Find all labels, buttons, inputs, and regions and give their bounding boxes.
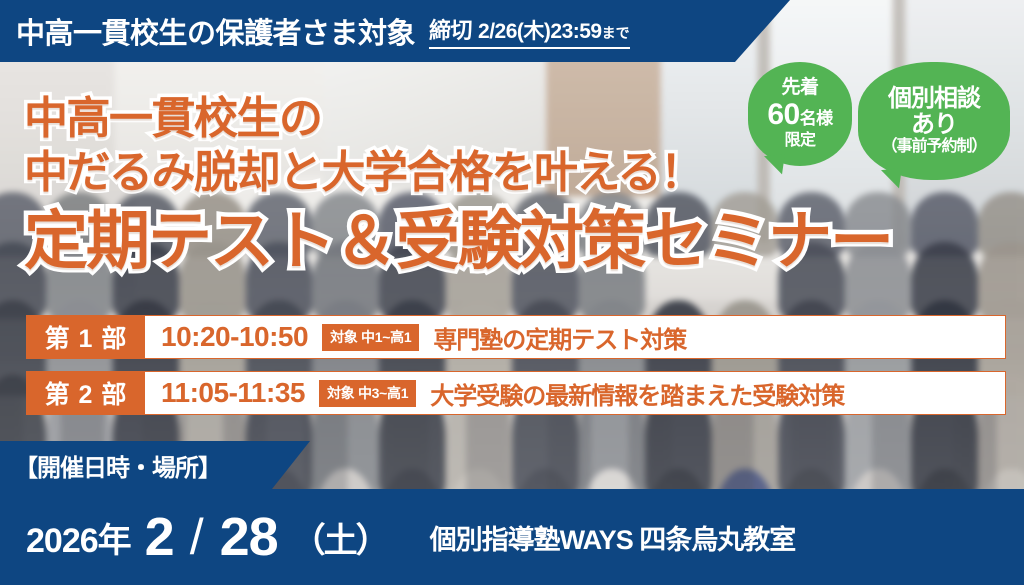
- session-row-2: 第 2 部 11:05-11:35 対象 中3~高1 大学受験の最新情報を踏まえ…: [26, 371, 1006, 415]
- event-month: 2: [145, 510, 174, 564]
- header-band: 中高一貫校生の保護者さま対象 締切 2/26(木)23:59 まで: [0, 0, 790, 62]
- badge-capacity-line2: 60名様: [767, 98, 832, 133]
- venue-section-label-text: 【開催日時・場所】: [0, 448, 221, 483]
- badge-capacity-unit: 名様: [800, 109, 833, 128]
- session-1-time: 10:20-10:50: [161, 321, 308, 353]
- seminar-banner: 中高一貫校生の保護者さま対象 締切 2/26(木)23:59 まで 先着 60名…: [0, 0, 1024, 585]
- session-row-1: 第 1 部 10:20-10:50 対象 中1~高1 専門塾の定期テスト対策: [26, 315, 1006, 359]
- headline-line-3: 定期テスト＆受験対策セミナー: [24, 201, 892, 281]
- badge-consultation-line1: 個別相談: [888, 86, 980, 111]
- event-day-of-week: （土）: [292, 513, 388, 562]
- badge-consultation-line2: あり: [911, 112, 957, 138]
- session-1-description: 専門塾の定期テスト対策: [433, 320, 686, 355]
- badge-consultation: 個別相談 あり （事前予約制）: [858, 62, 1010, 180]
- session-2-time: 11:05-11:35: [161, 377, 305, 409]
- venue-section-label: 【開催日時・場所】: [0, 441, 310, 489]
- badge-group: 先着 60名様 限定 個別相談 あり （事前予約制）: [748, 62, 1010, 180]
- badge-consultation-line3: （事前予約制）: [881, 138, 986, 156]
- badge-capacity-number: 60: [767, 98, 799, 131]
- session-1-part: 第 1 部: [27, 316, 145, 358]
- session-1-target-tag: 対象 中1~高1: [322, 324, 419, 351]
- badge-capacity: 先着 60名様 限定: [748, 62, 852, 166]
- date-separator: /: [188, 512, 206, 562]
- deadline: 締切 2/26(木)23:59 まで: [429, 13, 630, 49]
- deadline-suffix: まで: [602, 23, 630, 43]
- session-list: 第 1 部 10:20-10:50 対象 中1~高1 専門塾の定期テスト対策 第…: [26, 315, 1006, 415]
- venue-name: 個別指導塾WAYS 四条烏丸教室: [430, 518, 796, 557]
- session-2-description: 大学受験の最新情報を踏まえた受験対策: [430, 376, 844, 411]
- deadline-label: 締切: [429, 13, 472, 45]
- session-2-target-tag: 対象 中3~高1: [319, 380, 416, 407]
- session-2-part: 第 2 部: [27, 372, 145, 414]
- audience-title: 中高一貫校生の保護者さま対象: [16, 10, 415, 52]
- date-venue-bar: 2026年 2 / 28 （土） 個別指導塾WAYS 四条烏丸教室: [0, 489, 1024, 585]
- deadline-value: 2/26(木)23:59: [478, 15, 602, 45]
- event-year: 2026年: [26, 513, 131, 562]
- badge-capacity-line1: 先着: [781, 78, 818, 98]
- badge-capacity-line3: 限定: [784, 132, 815, 150]
- event-day: 28: [220, 510, 278, 564]
